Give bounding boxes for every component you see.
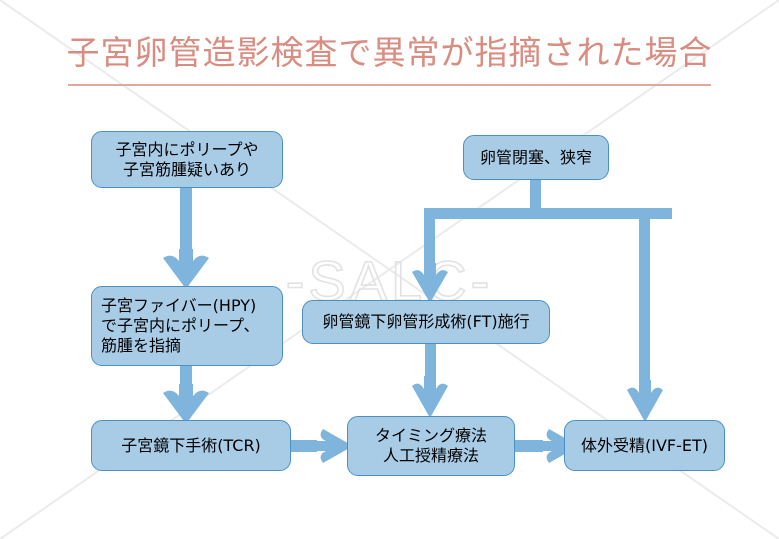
node-falloposcopic-tuboplasty-ft[interactable]: 卵管鏡下卵管形成術(FT)施行 — [302, 300, 550, 344]
arrowhead-hpy-to-tcr — [162, 384, 210, 424]
diagram-canvas: -SALC- 子宮卵管造影検査で異常が指摘された場合 子宮内にポリープ — [0, 0, 779, 539]
connector-ft-to-timing-line — [425, 344, 436, 380]
arrowhead-tubalblock-to-ft — [411, 263, 449, 303]
node-ivf-et[interactable]: 体外受精(IVF-ET) — [564, 420, 725, 471]
node-tubal-blockage[interactable]: 卵管閉塞、狭窄 — [463, 135, 609, 180]
page-title: 子宮卵管造影検査で異常が指摘された場合 — [0, 33, 779, 73]
page-title-text: 子宮卵管造影検査で異常が指摘された場合 — [67, 33, 713, 73]
connector-tubalblock-right-leg — [639, 208, 650, 386]
title-underline-rule — [68, 84, 711, 86]
node-uterine-polyp[interactable]: 子宮内にポリープや 子宮筋腫疑いあり — [91, 131, 283, 188]
node-hysteroscopic-surgery-tcr[interactable]: 子宮鏡下手術(TCR) — [91, 420, 291, 471]
arrowhead-polyp-to-hpy — [162, 249, 210, 289]
arrowhead-tubalblock-to-ivfet — [626, 380, 664, 422]
connector-polyp-to-hpy-line — [180, 188, 192, 253]
node-timing-and-aih-therapy[interactable]: タイミング療法 人工授精療法 — [347, 416, 515, 476]
arrowhead-ft-to-timing — [411, 376, 449, 418]
connector-tubalblock-bus — [424, 208, 672, 219]
node-hysterofiberscope-hpy[interactable]: 子宮ファイバー(HPY) で子宮内にポリープ、 筋腫を指摘 — [91, 286, 283, 366]
